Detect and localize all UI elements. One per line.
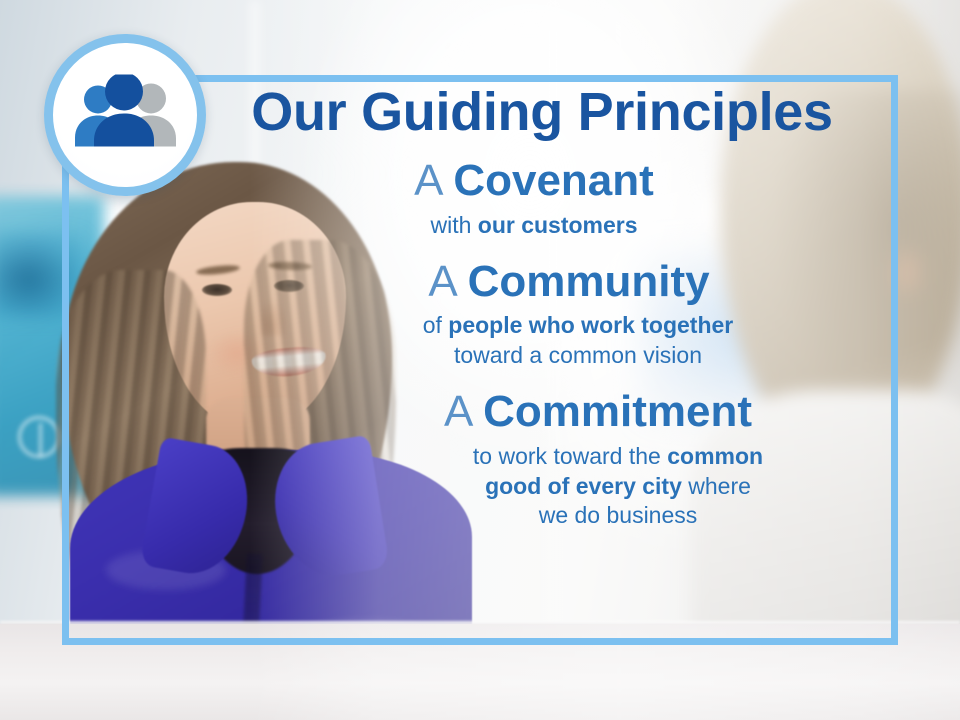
principle-article: A: [428, 257, 455, 306]
principle-heading: A Covenant: [212, 158, 856, 205]
people-group-icon: [69, 74, 181, 152]
principle-subtext-bold: our customers: [478, 212, 638, 238]
principle-article: A: [444, 387, 471, 436]
principle-community: A Community of people who work together …: [212, 259, 872, 371]
principle-subtext-bold: people who work together: [448, 312, 733, 338]
principle-subtext: to work toward the common good of every …: [324, 442, 872, 532]
principle-keyword: Covenant: [453, 156, 653, 205]
principle-subtext-light: to work toward the: [473, 443, 667, 469]
principle-subtext-line-3: we do business: [364, 501, 872, 531]
principle-covenant: A Covenant with our customers: [212, 158, 872, 241]
principle-article: A: [414, 156, 441, 205]
content-column: Our Guiding Principles A Covenant with o…: [212, 84, 872, 531]
principle-subtext-bold: common: [667, 443, 763, 469]
guiding-principles-banner: FLOW FLOW: [0, 0, 960, 720]
principle-subtext-line-2: good of every city where: [364, 472, 872, 502]
page-title: Our Guiding Principles: [212, 84, 872, 140]
people-group-icon-badge: [44, 34, 206, 196]
principle-subtext-light: of: [423, 312, 449, 338]
principle-subtext: of people who work together toward a com…: [266, 311, 872, 371]
principle-subtext-light: where: [682, 473, 751, 499]
principle-subtext-line-2: toward a common vision: [284, 341, 872, 371]
principle-heading: A Commitment: [324, 389, 872, 436]
customer-ear: [886, 242, 928, 302]
principle-subtext-line-1: to work toward the common: [364, 442, 872, 472]
principle-subtext-light: with: [430, 212, 477, 238]
desk-surface: [0, 624, 960, 720]
principle-subtext: with our customers: [212, 211, 856, 241]
principle-subtext-line-1: of people who work together: [284, 311, 872, 341]
principle-commitment: A Commitment to work toward the common g…: [212, 389, 872, 531]
principle-keyword: Commitment: [483, 387, 752, 436]
principle-subtext-bold: good of every city: [485, 473, 682, 499]
principle-keyword: Community: [468, 257, 710, 306]
principle-heading: A Community: [266, 259, 872, 306]
